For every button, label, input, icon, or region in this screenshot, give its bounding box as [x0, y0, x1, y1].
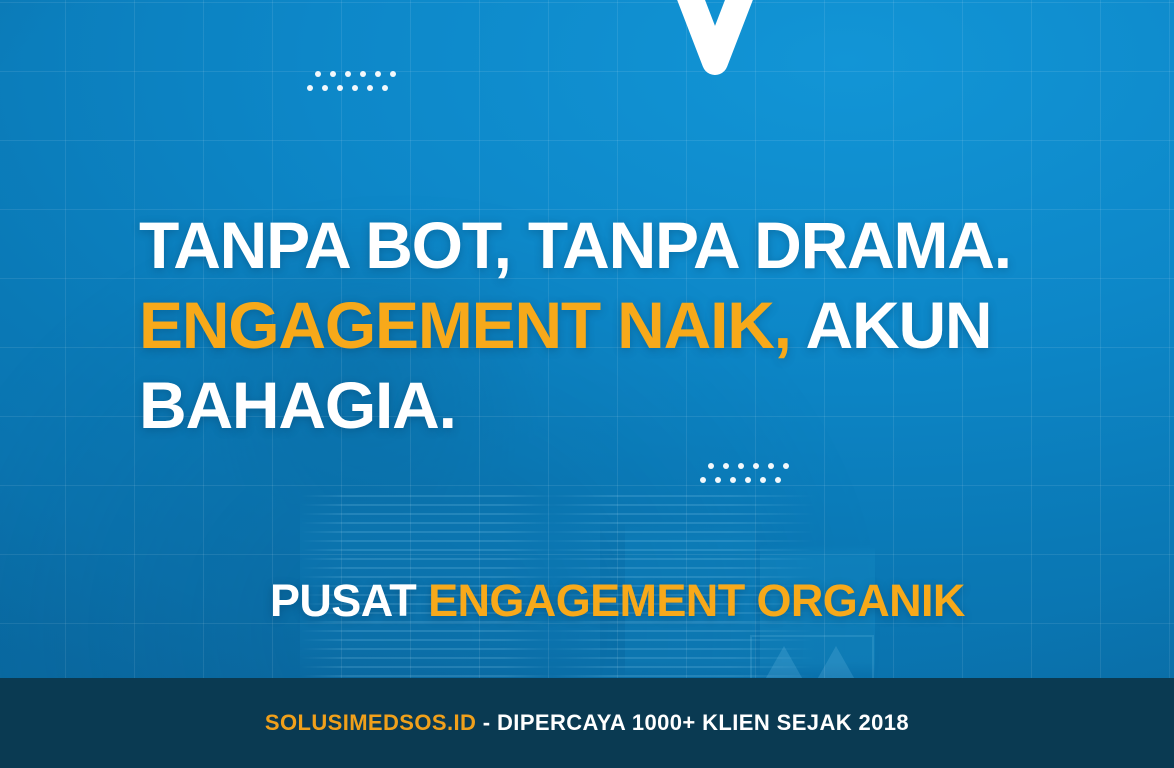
headline-line-2: ENGAGEMENT NAIK, AKUN — [139, 285, 1099, 365]
headline-line2-text: AKUN — [791, 288, 992, 362]
headline-line1-text: TANPA BOT, TANPA DRAMA. — [139, 208, 1011, 282]
promo-banner: TANPA BOT, TANPA DRAMA. ENGAGEMENT NAIK,… — [0, 0, 1174, 768]
footer-bar: SOLUSIMEDSOS.ID - DIPERCAYA 1000+ KLIEN … — [0, 678, 1174, 768]
footer-brand-name: SOLUSIMEDSOS.ID — [265, 710, 476, 735]
dot-grid-decoration-middle — [708, 463, 789, 483]
footer-tagline: SOLUSIMEDSOS.ID - DIPERCAYA 1000+ KLIEN … — [265, 710, 909, 736]
headline-line3-text: BAHAGIA. — [139, 368, 456, 442]
subheadline-white-text: PUSAT — [270, 575, 428, 626]
subheadline-accent-text: ENGAGEMENT ORGANIK — [428, 575, 965, 626]
headline-line2-accent: ENGAGEMENT NAIK, — [139, 288, 791, 362]
dot-grid-decoration-top — [315, 71, 396, 91]
subheadline: PUSAT ENGAGEMENT ORGANIK — [270, 576, 965, 626]
headline: TANPA BOT, TANPA DRAMA. ENGAGEMENT NAIK,… — [139, 205, 1099, 445]
headline-line-1: TANPA BOT, TANPA DRAMA. — [139, 205, 1099, 285]
v-checkmark-logo-icon — [639, 0, 791, 104]
footer-trust-text: - DIPERCAYA 1000+ KLIEN SEJAK 2018 — [476, 710, 909, 735]
headline-line-3: BAHAGIA. — [139, 365, 1099, 445]
